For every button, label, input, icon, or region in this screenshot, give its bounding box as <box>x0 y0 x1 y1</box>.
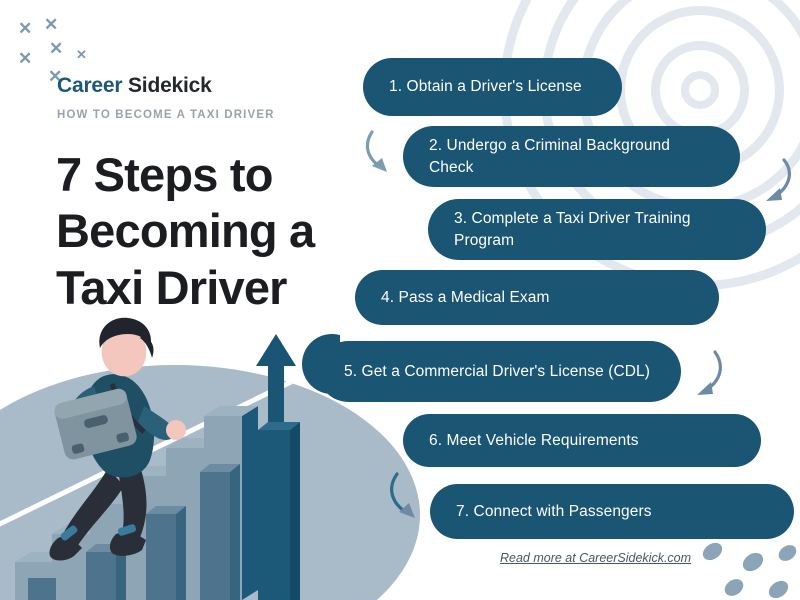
step-label-5: 5. Get a Commercial Driver's License (CD… <box>344 361 650 382</box>
step-box-2[interactable]: 2. Undergo a Criminal Background Check <box>403 126 740 187</box>
logo-word-sidekick: Sidekick <box>128 74 212 97</box>
step-box-4[interactable]: 4. Pass a Medical Exam <box>355 270 719 325</box>
logo-word-career: Career <box>57 74 122 97</box>
step-label-7: 7. Connect with Passengers <box>456 501 652 522</box>
step-label-1: 1. Obtain a Driver's License <box>389 76 582 97</box>
arrow-step2-to-step3 <box>752 156 798 210</box>
step-box-6[interactable]: 6. Meet Vehicle Requirements <box>403 414 761 467</box>
arrow-step1-to-step2 <box>362 126 410 182</box>
step-box-5[interactable]: 5. Get a Commercial Driver's License (CD… <box>318 341 681 402</box>
step-box-3[interactable]: 3. Complete a Taxi Driver Training Progr… <box>428 199 766 260</box>
step-box-7[interactable]: 7. Connect with Passengers <box>430 484 794 539</box>
illustration-person-climbing-stairs <box>0 300 340 600</box>
step-box-1[interactable]: 1. Obtain a Driver's License <box>363 58 622 116</box>
arrow-step5-to-step6 <box>685 348 731 404</box>
page-title: 7 Steps to Becoming a Taxi Driver <box>56 147 366 316</box>
infographic-canvas: ✕ ✕ ✕ ✕ ✕ ✕ Career Sidekick HOW TO BECOM… <box>0 0 800 600</box>
site-logo: Career Sidekick <box>57 74 275 98</box>
step-label-6: 6. Meet Vehicle Requirements <box>429 430 639 451</box>
step-label-3: 3. Complete a Taxi Driver Training Progr… <box>454 208 740 251</box>
step-label-4: 4. Pass a Medical Exam <box>381 287 549 308</box>
arrow-step6-to-step7 <box>385 470 433 526</box>
kicker-label: HOW TO BECOME A TAXI DRIVER <box>57 109 275 121</box>
brand-block: Career Sidekick HOW TO BECOME A TAXI DRI… <box>57 74 275 121</box>
read-more-link[interactable]: Read more at CareerSidekick.com <box>500 551 691 565</box>
step-label-2: 2. Undergo a Criminal Background Check <box>429 135 714 178</box>
